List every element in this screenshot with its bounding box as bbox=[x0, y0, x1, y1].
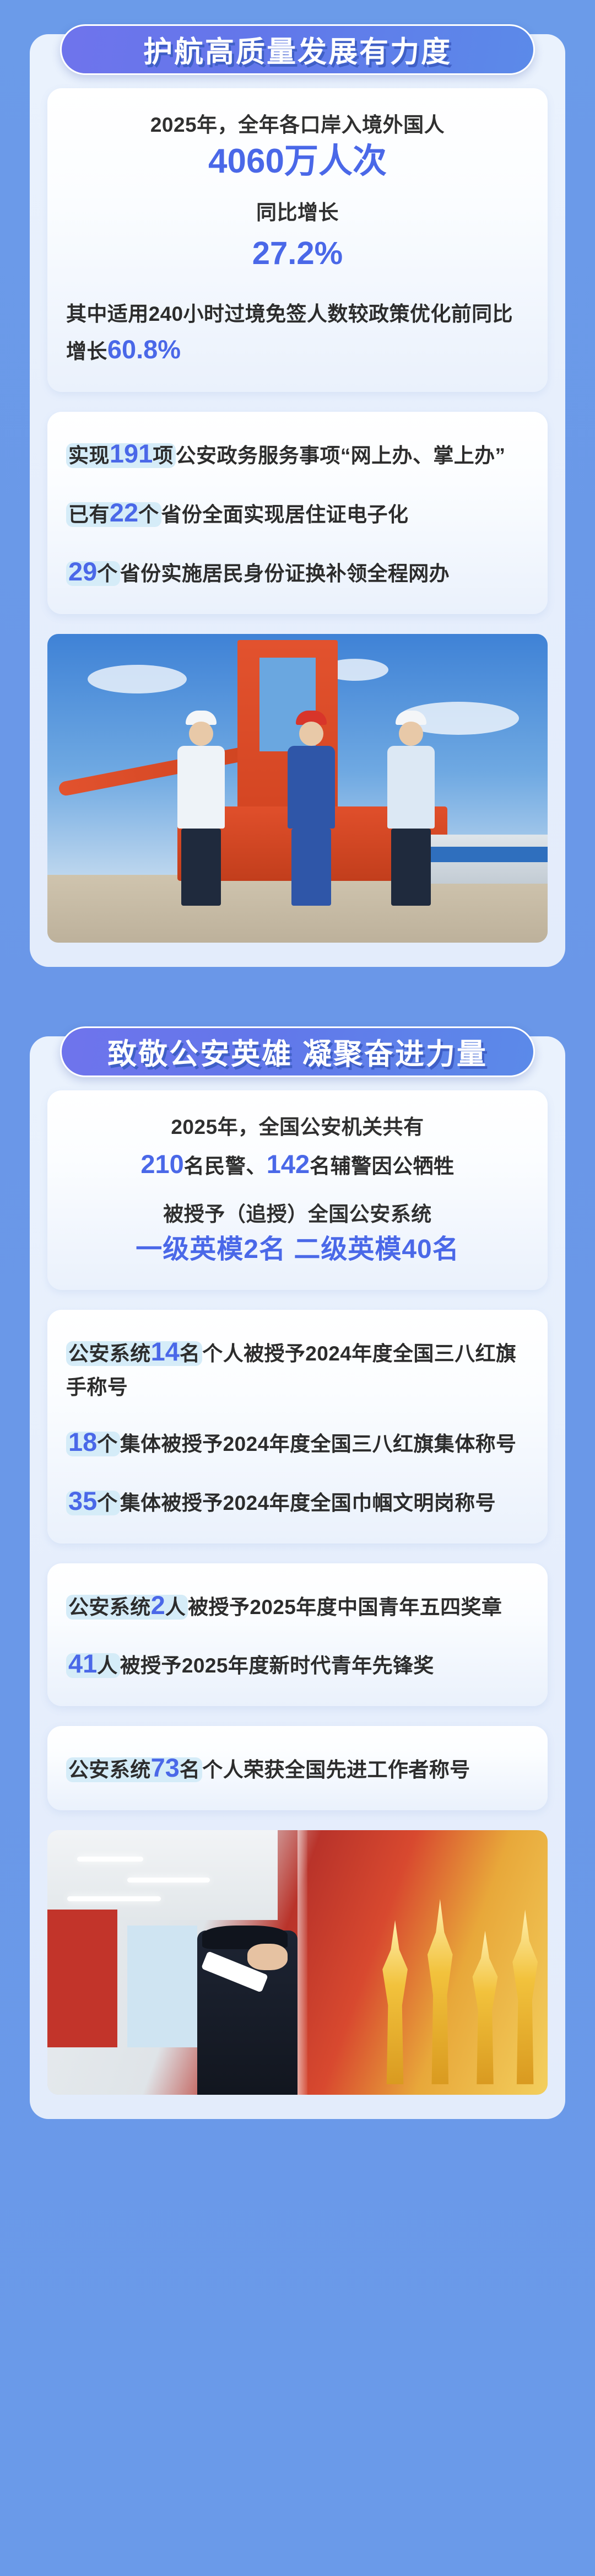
item-3-number: 29 bbox=[68, 557, 97, 586]
card-police-services: 实现191项公安政务服务事项“网上办、掌上办” 已有22个省份全面实现居住证电子… bbox=[47, 412, 548, 614]
w2-after: 个 bbox=[97, 1433, 117, 1455]
police-service-item-1: 实现191项公安政务服务事项“网上办、掌上办” bbox=[66, 434, 529, 474]
section-2-banner-title: 致敬公安英雄 凝聚奋进力量 bbox=[107, 1031, 488, 1073]
entry-stats-line-4: 27.2% bbox=[66, 230, 529, 277]
police-service-item-1-highlight: 实现191项 bbox=[66, 443, 176, 468]
hero-model-counts: 一级英模2名 二级英模40名 bbox=[136, 1235, 459, 1264]
police-officer-left bbox=[177, 711, 225, 906]
display-case-glass bbox=[297, 1830, 307, 2095]
w3-after: 个 bbox=[97, 1492, 117, 1514]
blue-workwear-torso bbox=[288, 746, 335, 829]
section-1-banner: 护航高质量发展有力度 bbox=[60, 24, 535, 75]
police-service-item-2-highlight: 已有22个 bbox=[66, 502, 161, 527]
police-officer-right bbox=[387, 711, 435, 906]
y1-rest: 被授予2025年度中国青年五四奖章 bbox=[188, 1596, 502, 1618]
w3-rest: 集体被授予2024年度全国巾帼文明岗称号 bbox=[120, 1492, 496, 1514]
section-divider bbox=[0, 967, 595, 1002]
youth-award-item-2-highlight: 41人 bbox=[66, 1653, 120, 1678]
red-wall-display bbox=[47, 1910, 117, 2047]
card-sacrifice: 2025年，全国公安机关共有 210名民警、142名辅警因公牺牲 被授予（追授）… bbox=[47, 1090, 548, 1290]
entry-stats-growth-percent: 27.2% bbox=[252, 235, 343, 271]
infographic-page: 护航高质量发展有力度 2025年，全年各口岸入境外国人 4060万人次 同比增长… bbox=[0, 0, 595, 2576]
women-award-item-3-highlight: 35个 bbox=[66, 1491, 120, 1515]
w1-after: 名 bbox=[180, 1342, 200, 1365]
ceiling-light-icon bbox=[127, 1878, 210, 1883]
uniform-torso bbox=[387, 746, 435, 829]
entry-stats-line-1: 2025年，全年各口岸入境外国人 bbox=[66, 110, 529, 141]
cloud-icon bbox=[88, 665, 187, 693]
police-service-item-3-highlight: 29个 bbox=[66, 561, 120, 586]
site-banner-sign bbox=[418, 847, 548, 862]
w1-before: 公安系统 bbox=[68, 1342, 151, 1365]
women-award-item-3: 35个集体被授予2024年度全国巾帼文明岗称号 bbox=[66, 1481, 529, 1521]
ceiling-light-icon bbox=[77, 1857, 143, 1862]
y1-number: 2 bbox=[151, 1590, 165, 1620]
sacrifice-line-3: 被授予（追授）全国公安系统 bbox=[66, 1200, 529, 1230]
photo-construction-site-content bbox=[47, 634, 548, 943]
entry-stats-line-3: 同比增长 bbox=[66, 198, 529, 228]
a1-number: 73 bbox=[151, 1753, 180, 1782]
section-1-banner-wrap: 护航高质量发展有力度 bbox=[0, 0, 595, 75]
y2-number: 41 bbox=[68, 1649, 97, 1678]
women-award-item-2-highlight: 18个 bbox=[66, 1432, 120, 1456]
face-shape bbox=[247, 1944, 288, 1970]
w2-number: 18 bbox=[68, 1427, 97, 1456]
sacrifice-line-2: 210名民警、142名辅警因公牺牲 bbox=[66, 1145, 529, 1184]
uniform-torso bbox=[177, 746, 225, 829]
youth-award-item-1-highlight: 公安系统2人 bbox=[66, 1595, 188, 1620]
item-1-rest: 公安政务服务事项“网上办、掌上办” bbox=[176, 444, 506, 467]
section-2-panel: 2025年，全国公安机关共有 210名民警、142名辅警因公牺牲 被授予（追授）… bbox=[30, 1036, 565, 2119]
blue-workwear-legs bbox=[291, 829, 331, 906]
section-salute-police-heroes: 致敬公安英雄 凝聚奋进力量 2025年，全国公安机关共有 210名民警、142名… bbox=[0, 1002, 595, 2119]
advanced-worker-item-1-highlight: 公安系统73名 bbox=[66, 1757, 202, 1782]
item-2-after: 个 bbox=[138, 503, 159, 526]
women-award-item-1: 公安系统14名个人被授予2024年度全国三八红旗手称号 bbox=[66, 1332, 529, 1403]
head-shape bbox=[299, 722, 323, 746]
ceiling-panel bbox=[47, 1830, 278, 1920]
entry-stats-line-2: 4060万人次 bbox=[66, 143, 529, 181]
youth-award-item-2: 41人被授予2025年度新时代青年先锋奖 bbox=[66, 1644, 529, 1684]
w3-number: 35 bbox=[68, 1486, 97, 1515]
w1-number: 14 bbox=[151, 1337, 180, 1366]
item-1-before: 实现 bbox=[68, 444, 110, 467]
sacrifice-line-4: 一级英模2名 二级英模40名 bbox=[66, 1232, 529, 1268]
section-2-banner: 致敬公安英雄 凝聚奋进力量 bbox=[60, 1026, 535, 1077]
a1-after: 名 bbox=[180, 1758, 200, 1781]
photo-construction-site bbox=[47, 634, 548, 943]
item-3-after: 个 bbox=[97, 562, 117, 585]
sacrifice-fujing-count: 142 bbox=[267, 1149, 310, 1179]
card-youth-awards: 公安系统2人被授予2025年度中国青年五四奖章 41人被授予2025年度新时代青… bbox=[47, 1563, 548, 1707]
card-advanced-workers: 公安系统73名个人荣获全国先进工作者称号 bbox=[47, 1726, 548, 1810]
item-1-after: 项 bbox=[153, 444, 173, 467]
y2-rest: 被授予2025年度新时代青年先锋奖 bbox=[120, 1654, 434, 1677]
card-women-awards: 公安系统14名个人被授予2024年度全国三八红旗手称号 18个集体被授予2024… bbox=[47, 1310, 548, 1544]
item-3-rest: 省份实施居民身份证换补领全程网办 bbox=[120, 562, 450, 585]
photo-trophy-display-content bbox=[47, 1830, 548, 2095]
section-2-banner-wrap: 致敬公安英雄 凝聚奋进力量 bbox=[0, 1002, 595, 1077]
police-service-item-2: 已有22个省份全面实现居住证电子化 bbox=[66, 493, 529, 533]
item-2-number: 22 bbox=[110, 498, 138, 527]
uniform-legs bbox=[181, 829, 221, 906]
section-1-banner-title: 护航高质量发展有力度 bbox=[143, 29, 452, 71]
youth-award-item-1: 公安系统2人被授予2025年度中国青年五四奖章 bbox=[66, 1585, 529, 1626]
uniform-legs bbox=[391, 829, 431, 906]
sacrifice-minjing-count: 210 bbox=[140, 1149, 183, 1179]
y2-after: 人 bbox=[97, 1654, 117, 1677]
women-award-item-2: 18个集体被授予2024年度全国三八红旗集体称号 bbox=[66, 1422, 529, 1462]
section-high-quality-development: 护航高质量发展有力度 2025年，全年各口岸入境外国人 4060万人次 同比增长… bbox=[0, 0, 595, 967]
interior-door bbox=[127, 1926, 197, 2047]
item-2-before: 已有 bbox=[68, 503, 110, 526]
item-2-rest: 省份全面实现居住证电子化 bbox=[161, 503, 409, 526]
card-entry-stats: 2025年，全年各口岸入境外国人 4060万人次 同比增长 27.2% 其中适用… bbox=[47, 88, 548, 392]
entry-stats-visa-free-paragraph: 其中适用240小时过境免签人数较政策优化前同比增长60.8% bbox=[66, 298, 529, 370]
site-worker-center bbox=[288, 711, 335, 906]
sacrifice-line-1: 2025年，全国公安机关共有 bbox=[66, 1112, 529, 1143]
w2-rest: 集体被授予2024年度全国三八红旗集体称号 bbox=[120, 1433, 517, 1455]
y1-before: 公安系统 bbox=[68, 1596, 151, 1618]
entry-stats-number-total: 4060万人次 bbox=[208, 142, 387, 180]
a1-rest: 个人荣获全国先进工作者称号 bbox=[202, 1758, 470, 1781]
police-service-item-3: 29个省份实施居民身份证换补领全程网办 bbox=[66, 552, 529, 592]
ceiling-light-icon bbox=[67, 1896, 161, 1901]
a1-before: 公安系统 bbox=[68, 1758, 151, 1781]
y1-after: 人 bbox=[165, 1596, 186, 1618]
women-award-item-1-highlight: 公安系统14名 bbox=[66, 1341, 202, 1366]
head-shape bbox=[189, 722, 213, 746]
head-shape bbox=[399, 722, 423, 746]
section-1-panel: 2025年，全年各口岸入境外国人 4060万人次 同比增长 27.2% 其中适用… bbox=[30, 34, 565, 967]
advanced-worker-item-1: 公安系统73名个人荣获全国先进工作者称号 bbox=[66, 1748, 529, 1788]
item-1-number: 191 bbox=[110, 439, 153, 468]
photo-trophy-display bbox=[47, 1830, 548, 2095]
visa-free-growth-percent: 60.8% bbox=[107, 335, 181, 364]
